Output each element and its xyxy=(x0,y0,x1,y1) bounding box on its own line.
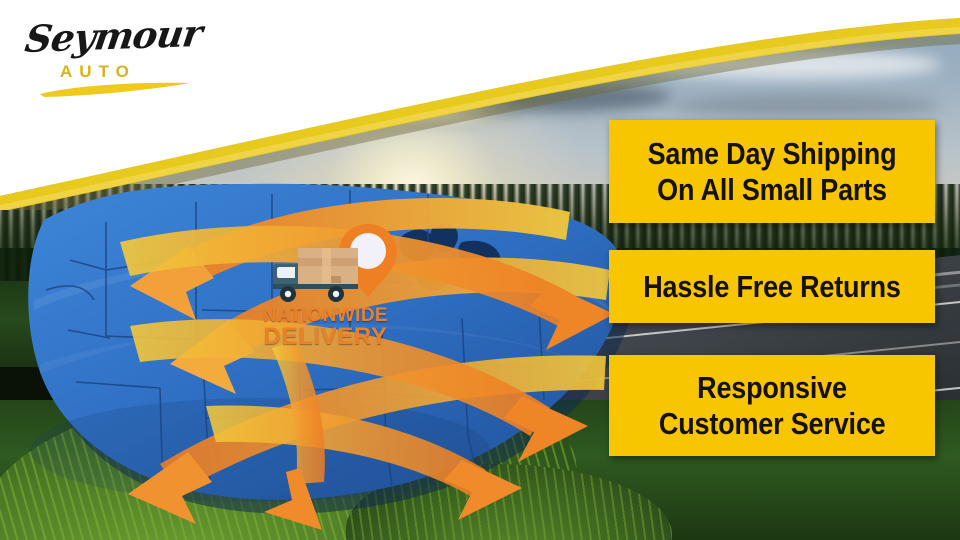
sun-glow xyxy=(317,60,547,125)
nationwide-delivery-headline: NATIONWIDE DELIVERY xyxy=(258,306,393,350)
banner-line: On All Small Parts xyxy=(657,172,887,207)
cloud xyxy=(634,50,941,80)
feature-banner-hassle-free-returns[interactable]: Hassle Free Returns xyxy=(609,250,935,323)
headline-line-2: DELIVERY xyxy=(258,325,393,349)
banner-line: Customer Service xyxy=(659,406,886,441)
banner-line: Same Day Shipping xyxy=(648,136,897,171)
cloud xyxy=(672,94,941,116)
delivery-truck-icon xyxy=(272,244,367,306)
logo-subtext: AUTO xyxy=(60,62,136,82)
cloud xyxy=(480,20,806,52)
banner-line: Hassle Free Returns xyxy=(643,269,901,304)
promo-banner-stage: Seymour AUTO xyxy=(0,0,960,540)
banner-line: Responsive xyxy=(697,370,847,405)
logo-wordmark: Seymour xyxy=(22,11,204,61)
brand-logo[interactable]: Seymour AUTO xyxy=(18,12,203,98)
feature-banner-responsive-customer-service[interactable]: Responsive Customer Service xyxy=(609,355,935,456)
logo-swoosh-icon xyxy=(40,82,190,98)
feature-banner-same-day-shipping[interactable]: Same Day Shipping On All Small Parts xyxy=(609,120,935,223)
